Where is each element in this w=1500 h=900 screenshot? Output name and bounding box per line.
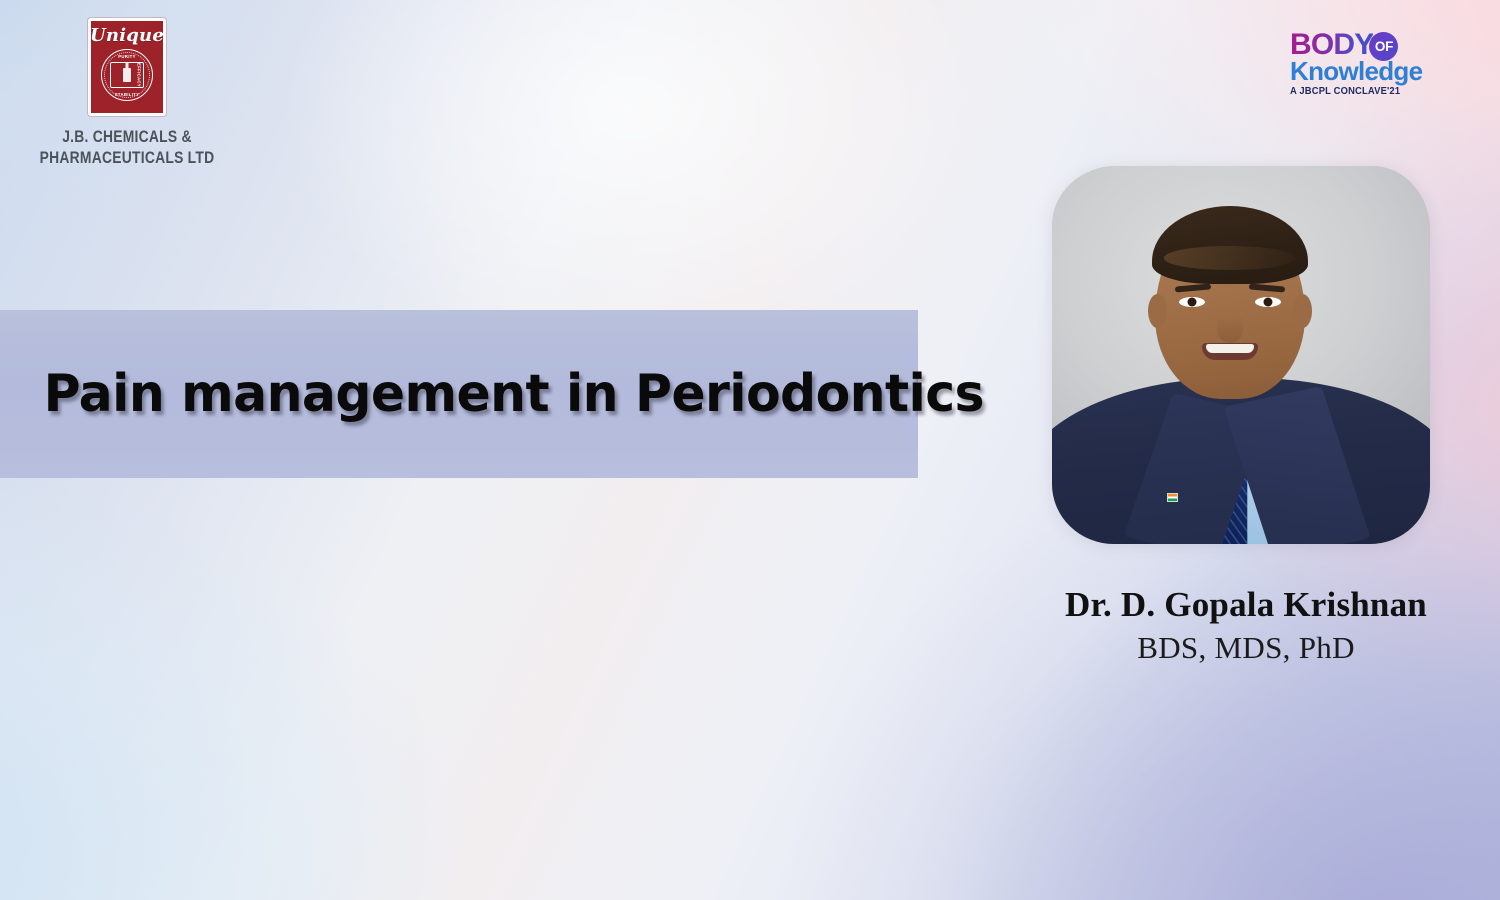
photo-eyebrow-right — [1248, 283, 1284, 292]
speaker-degrees: BDS, MDS, PhD — [1012, 628, 1480, 668]
bottle-icon — [123, 68, 131, 82]
unique-script-label: Unique — [90, 27, 164, 45]
company-name-line2: PHARMACEUTICALS LTD — [39, 148, 215, 169]
photo-eye-left — [1179, 297, 1205, 307]
photo-nose — [1217, 315, 1243, 343]
event-logo-tagline: A JBCPL CONCLAVE'21 — [1290, 86, 1445, 97]
photo-ear-left — [1148, 294, 1167, 328]
company-name-line1: J.B. CHEMICALS & — [39, 127, 215, 148]
event-logo: BODYOF Knowledge A JBCPL CONCLAVE'21 — [1290, 30, 1458, 97]
seal-text-stability: STABILITY — [115, 92, 140, 97]
seal-text-purity: PURITY — [118, 54, 136, 59]
speaker-credits: Dr. D. Gopala Krishnan BDS, MDS, PhD — [1012, 584, 1480, 669]
photo-ear-right — [1293, 294, 1312, 328]
unique-brand-mark-icon: Unique PURITY EFFICACY STABILITY — [88, 18, 166, 116]
seal-text-efficacy: EFFICACY — [137, 63, 142, 87]
photo-eye-right — [1255, 297, 1281, 307]
speaker-name: Dr. D. Gopala Krishnan — [1012, 584, 1480, 625]
indian-flag-pin-icon — [1167, 493, 1178, 502]
title-band: Pain management in Periodontics — [0, 310, 918, 478]
event-logo-row-body: BODYOF — [1290, 30, 1458, 60]
event-logo-of-badge: OF — [1369, 32, 1398, 61]
event-logo-word-body: BODY — [1290, 28, 1373, 61]
photo-mouth — [1202, 343, 1258, 360]
photo-teeth — [1206, 344, 1254, 353]
quality-seal-icon: PURITY EFFICACY STABILITY — [101, 49, 153, 101]
company-logo: Unique PURITY EFFICACY STABILITY J.B. CH… — [22, 18, 232, 169]
photo-eyebrow-left — [1174, 283, 1210, 292]
speaker-photo — [1052, 166, 1430, 544]
presentation-slide: Unique PURITY EFFICACY STABILITY J.B. CH… — [0, 0, 1500, 900]
event-logo-word-knowledge: Knowledge — [1290, 58, 1458, 85]
page-title: Pain management in Periodontics — [0, 364, 984, 424]
